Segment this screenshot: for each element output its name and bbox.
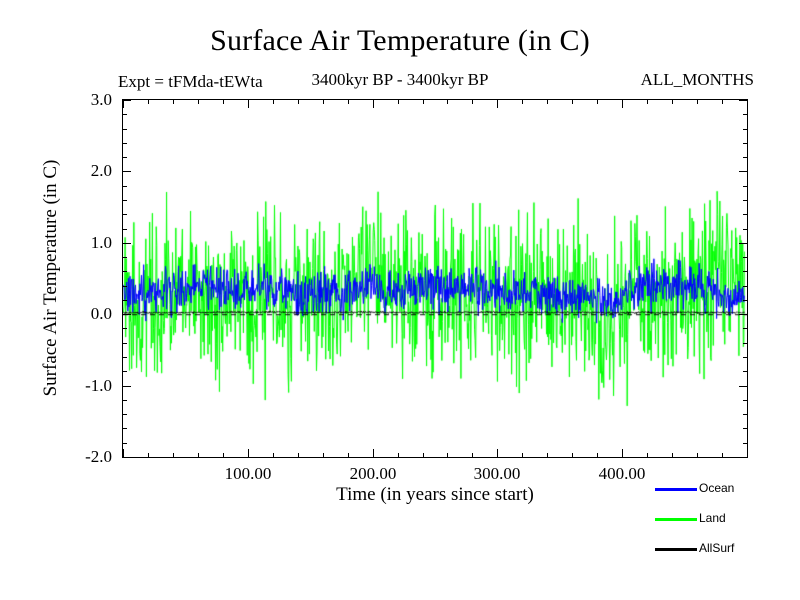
x-minor-tick [447, 453, 448, 458]
x-minor-tick [447, 99, 448, 104]
y-minor-tick [743, 343, 748, 344]
y-major-tick [739, 171, 748, 172]
y-major-tick [739, 386, 748, 387]
y-major-tick [122, 243, 131, 244]
x-minor-tick [547, 453, 548, 458]
x-minor-tick [348, 453, 349, 458]
y-major-tick [739, 243, 748, 244]
y-minor-tick [122, 271, 127, 272]
y-minor-tick [122, 214, 127, 215]
y-minor-tick [122, 443, 127, 444]
x-minor-tick [697, 99, 698, 104]
y-minor-tick [122, 143, 127, 144]
y-minor-tick [122, 357, 127, 358]
legend-swatch [655, 488, 697, 491]
y-minor-tick [743, 157, 748, 158]
x-minor-tick [148, 453, 149, 458]
y-minor-tick [743, 357, 748, 358]
x-minor-tick [697, 453, 698, 458]
x-minor-tick [672, 453, 673, 458]
x-minor-tick [572, 99, 573, 104]
x-minor-tick [223, 453, 224, 458]
y-minor-tick [743, 300, 748, 301]
x-tick-label: 200.00 [328, 464, 418, 484]
y-minor-tick [743, 328, 748, 329]
y-tick-label: -1.0 [56, 376, 112, 396]
y-minor-tick [122, 400, 127, 401]
legend-label: AllSurf [699, 541, 734, 555]
y-minor-tick [122, 229, 127, 230]
y-minor-tick [743, 400, 748, 401]
x-major-tick [747, 449, 748, 458]
y-major-tick [122, 314, 131, 315]
x-tick-label: 400.00 [577, 464, 667, 484]
x-minor-tick [298, 99, 299, 104]
x-minor-tick [198, 453, 199, 458]
chart-page: Surface Air Temperature (in C) Expt = tF… [0, 0, 800, 600]
x-minor-tick [323, 99, 324, 104]
y-tick-label: 2.0 [56, 161, 112, 181]
x-minor-tick [398, 453, 399, 458]
x-minor-tick [273, 99, 274, 104]
x-major-tick [248, 99, 249, 108]
y-minor-tick [743, 414, 748, 415]
x-minor-tick [423, 99, 424, 104]
x-minor-tick [472, 99, 473, 104]
y-minor-tick [743, 286, 748, 287]
legend-label: Ocean [699, 481, 734, 495]
y-minor-tick [122, 414, 127, 415]
x-minor-tick [273, 453, 274, 458]
x-major-tick [497, 449, 498, 458]
x-minor-tick [173, 453, 174, 458]
x-major-tick [373, 449, 374, 458]
x-minor-tick [472, 453, 473, 458]
x-major-tick [747, 99, 748, 108]
x-minor-tick [223, 99, 224, 104]
x-minor-tick [597, 453, 598, 458]
y-minor-tick [122, 257, 127, 258]
legend-swatch [655, 518, 697, 521]
y-major-tick [122, 171, 131, 172]
x-major-tick [123, 99, 124, 108]
y-tick-label: 1.0 [56, 233, 112, 253]
x-minor-tick [348, 99, 349, 104]
y-major-tick [739, 314, 748, 315]
months-label: ALL_MONTHS [641, 70, 754, 90]
x-major-tick [373, 99, 374, 108]
x-major-tick [622, 449, 623, 458]
x-major-tick [123, 449, 124, 458]
x-tick-label: 100.00 [203, 464, 293, 484]
x-minor-tick [298, 453, 299, 458]
y-tick-label: 0.0 [56, 304, 112, 324]
y-minor-tick [122, 300, 127, 301]
y-minor-tick [122, 328, 127, 329]
series-plot-canvas [123, 100, 747, 457]
y-minor-tick [122, 343, 127, 344]
page-title: Surface Air Temperature (in C) [0, 24, 800, 58]
x-minor-tick [323, 453, 324, 458]
legend-swatch [655, 548, 697, 551]
x-minor-tick [198, 99, 199, 104]
y-minor-tick [122, 428, 127, 429]
y-minor-tick [122, 186, 127, 187]
y-minor-tick [743, 271, 748, 272]
legend-label: Land [699, 511, 726, 525]
x-minor-tick [522, 453, 523, 458]
y-minor-tick [122, 371, 127, 372]
x-minor-tick [722, 99, 723, 104]
x-minor-tick [522, 99, 523, 104]
y-minor-tick [122, 129, 127, 130]
y-minor-tick [743, 214, 748, 215]
y-major-tick [122, 386, 131, 387]
y-minor-tick [743, 129, 748, 130]
x-minor-tick [722, 453, 723, 458]
x-minor-tick [398, 99, 399, 104]
y-tick-label: -2.0 [56, 447, 112, 467]
x-major-tick [497, 99, 498, 108]
y-minor-tick [122, 157, 127, 158]
y-minor-tick [743, 229, 748, 230]
y-minor-tick [743, 443, 748, 444]
x-minor-tick [647, 453, 648, 458]
y-minor-tick [743, 200, 748, 201]
y-minor-tick [743, 143, 748, 144]
y-minor-tick [743, 428, 748, 429]
y-minor-tick [743, 257, 748, 258]
x-major-tick [248, 449, 249, 458]
y-minor-tick [122, 286, 127, 287]
x-minor-tick [572, 453, 573, 458]
y-minor-tick [743, 186, 748, 187]
y-tick-label: 3.0 [56, 90, 112, 110]
x-minor-tick [173, 99, 174, 104]
x-minor-tick [547, 99, 548, 104]
x-minor-tick [597, 99, 598, 104]
x-minor-tick [672, 99, 673, 104]
y-minor-tick [743, 114, 748, 115]
x-tick-label: 300.00 [452, 464, 542, 484]
x-minor-tick [647, 99, 648, 104]
y-minor-tick [743, 371, 748, 372]
x-minor-tick [423, 453, 424, 458]
y-minor-tick [122, 114, 127, 115]
x-minor-tick [148, 99, 149, 104]
x-major-tick [622, 99, 623, 108]
y-minor-tick [122, 200, 127, 201]
